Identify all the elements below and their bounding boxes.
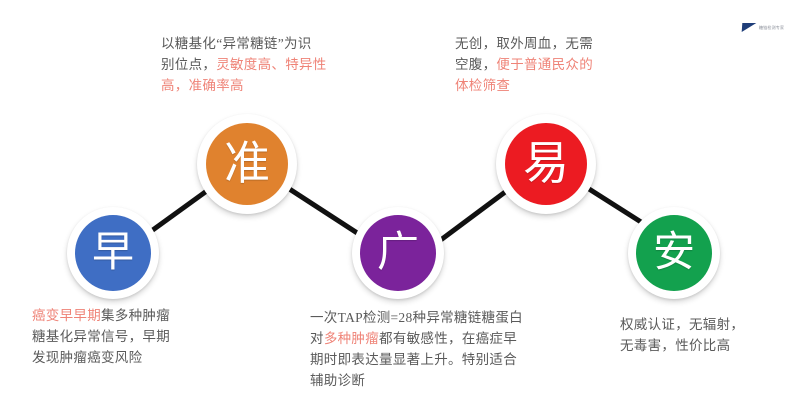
caption-run: 灵敏度高、特异性 [216, 57, 326, 72]
caption-line: 体检筛查 [455, 75, 665, 96]
caption-run: 体检筛查 [455, 78, 510, 93]
node-guang-inner: 广 [360, 215, 436, 291]
node-an-inner: 安 [636, 215, 712, 291]
caption-run: 期时即表达量显著上升。特别适合 [310, 352, 517, 367]
caption-run: 以糖基化“异常糖链”为识 [161, 36, 312, 51]
node-zao-character: 早 [92, 232, 134, 274]
slide-canvas: 糖链检测专家 早 准 广 易 安 以糖基化“异常糖链”为识别位点，灵敏度高、特异… [0, 0, 788, 415]
node-yi-inner: 易 [505, 123, 587, 205]
node-an-character: 安 [653, 232, 695, 274]
node-an[interactable]: 安 [628, 207, 720, 299]
caption-line: 权威认证，无辐射， [620, 314, 780, 335]
caption-line: 别位点，灵敏度高、特异性 [161, 54, 389, 75]
caption-line: 无创，取外周血，无需 [455, 33, 665, 54]
caption-line: 一次TAP检测=28种异常糖链糖蛋白 [310, 307, 580, 328]
caption-run: 无创，取外周血，无需 [455, 36, 593, 51]
caption-run: 便于普通民众的 [496, 57, 593, 72]
caption-line: 糖基化异常信号，早期 [32, 326, 232, 347]
caption-line: 期时即表达量显著上升。特别适合 [310, 349, 580, 370]
node-zao[interactable]: 早 [67, 207, 159, 299]
node-zao-inner: 早 [75, 215, 151, 291]
caption-run: 空腹， [455, 57, 496, 72]
node-guang[interactable]: 广 [352, 207, 444, 299]
caption-run: 对 [310, 331, 324, 346]
caption-line: 无毒害，性价比高 [620, 335, 780, 356]
node-guang-character: 广 [377, 232, 419, 274]
caption-run: 高，准确率高 [161, 78, 244, 93]
caption-run: 权威认证，无辐射， [620, 317, 744, 332]
caption-run: 糖基化异常信号，早期 [32, 329, 170, 344]
node-yi-character: 易 [523, 141, 569, 187]
caption-run: 无毒害，性价比高 [620, 338, 730, 353]
caption-line: 高，准确率高 [161, 75, 389, 96]
caption-run: 集多种肿瘤 [101, 308, 170, 323]
caption-run: 辅助诊断 [310, 373, 365, 388]
caption-yi: 无创，取外周血，无需空腹，便于普通民众的体检筛查 [455, 33, 665, 96]
node-zhun-inner: 准 [206, 123, 288, 205]
caption-line: 发现肿瘤癌变风险 [32, 347, 232, 368]
caption-run: 一次TAP检测=28种异常糖链糖蛋白 [310, 310, 523, 325]
caption-run: 都有敏感性，在癌症早 [379, 331, 517, 346]
caption-line: 以糖基化“异常糖链”为识 [161, 33, 389, 54]
node-yi[interactable]: 易 [496, 114, 596, 214]
node-zhun[interactable]: 准 [197, 114, 297, 214]
caption-an: 权威认证，无辐射，无毒害，性价比高 [620, 314, 780, 356]
caption-line: 辅助诊断 [310, 370, 580, 391]
caption-guang: 一次TAP检测=28种异常糖链糖蛋白对多种肿瘤都有敏感性，在癌症早期时即表达量显… [310, 307, 580, 391]
caption-zhun: 以糖基化“异常糖链”为识别位点，灵敏度高、特异性高，准确率高 [161, 33, 389, 96]
caption-zao: 癌变早早期集多种肿瘤糖基化异常信号，早期发现肿瘤癌变风险 [32, 305, 232, 368]
caption-line: 对多种肿瘤都有敏感性，在癌症早 [310, 328, 580, 349]
caption-run: 多种肿瘤 [324, 331, 379, 346]
caption-line: 癌变早早期集多种肿瘤 [32, 305, 232, 326]
caption-run: 癌变早早期 [32, 308, 101, 323]
caption-run: 发现肿瘤癌变风险 [32, 350, 142, 365]
node-zhun-character: 准 [224, 141, 270, 187]
caption-run: 别位点， [161, 57, 216, 72]
caption-line: 空腹，便于普通民众的 [455, 54, 665, 75]
